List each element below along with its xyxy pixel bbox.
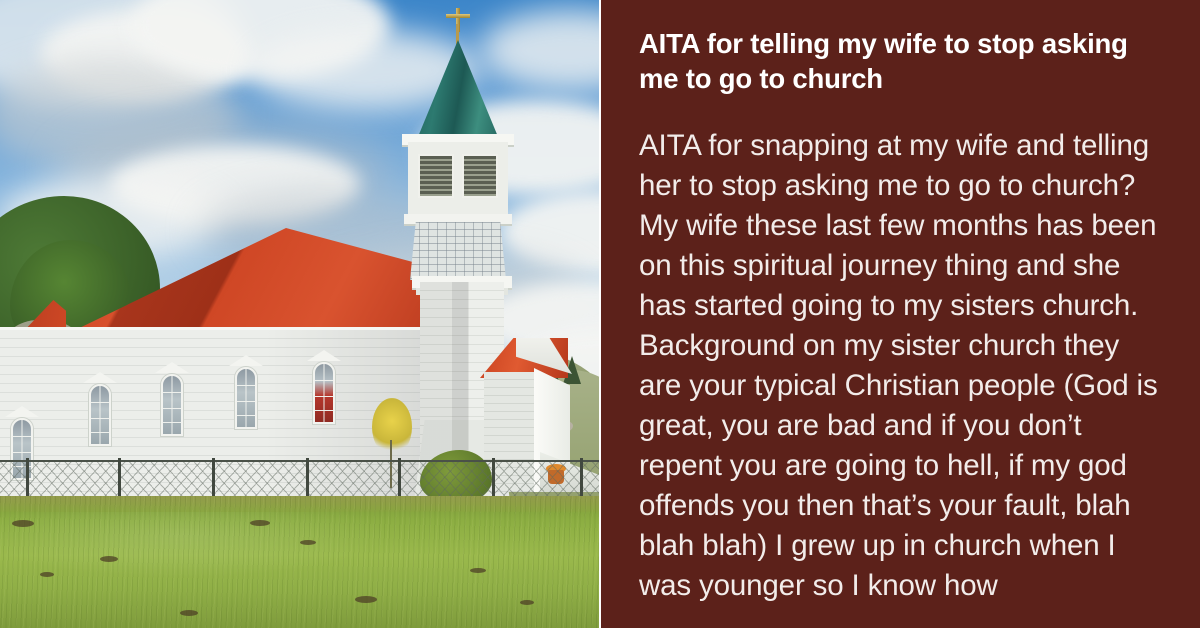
- photo-stage: [0, 0, 599, 628]
- dirt-patch: [300, 540, 316, 545]
- dirt-patch: [180, 610, 198, 616]
- dirt-patch: [355, 596, 377, 603]
- grass-texture: [0, 496, 599, 628]
- church-window-red: [313, 362, 335, 424]
- church-window: [161, 374, 183, 436]
- dirt-patch: [250, 520, 270, 526]
- louver-vent: [462, 154, 498, 198]
- dirt-patch: [520, 600, 534, 605]
- dirt-patch: [470, 568, 486, 573]
- church-window: [89, 384, 111, 446]
- post-body: AITA for snapping at my wife and telling…: [639, 126, 1166, 606]
- dirt-patch: [100, 556, 118, 562]
- church-photo: [0, 0, 599, 628]
- church-window: [235, 367, 257, 429]
- steeple-shingles: [410, 222, 506, 280]
- post-text-panel: AITA for telling my wife to stop asking …: [601, 0, 1200, 628]
- sapling: [372, 398, 412, 456]
- fence-rail: [0, 460, 599, 462]
- louver-vent: [418, 154, 454, 198]
- social-share-card: AITA for telling my wife to stop asking …: [0, 0, 1200, 628]
- cross-icon: [446, 14, 470, 18]
- dirt-patch: [12, 520, 34, 527]
- dirt-patch: [40, 572, 54, 577]
- post-title: AITA for telling my wife to stop asking …: [639, 26, 1166, 96]
